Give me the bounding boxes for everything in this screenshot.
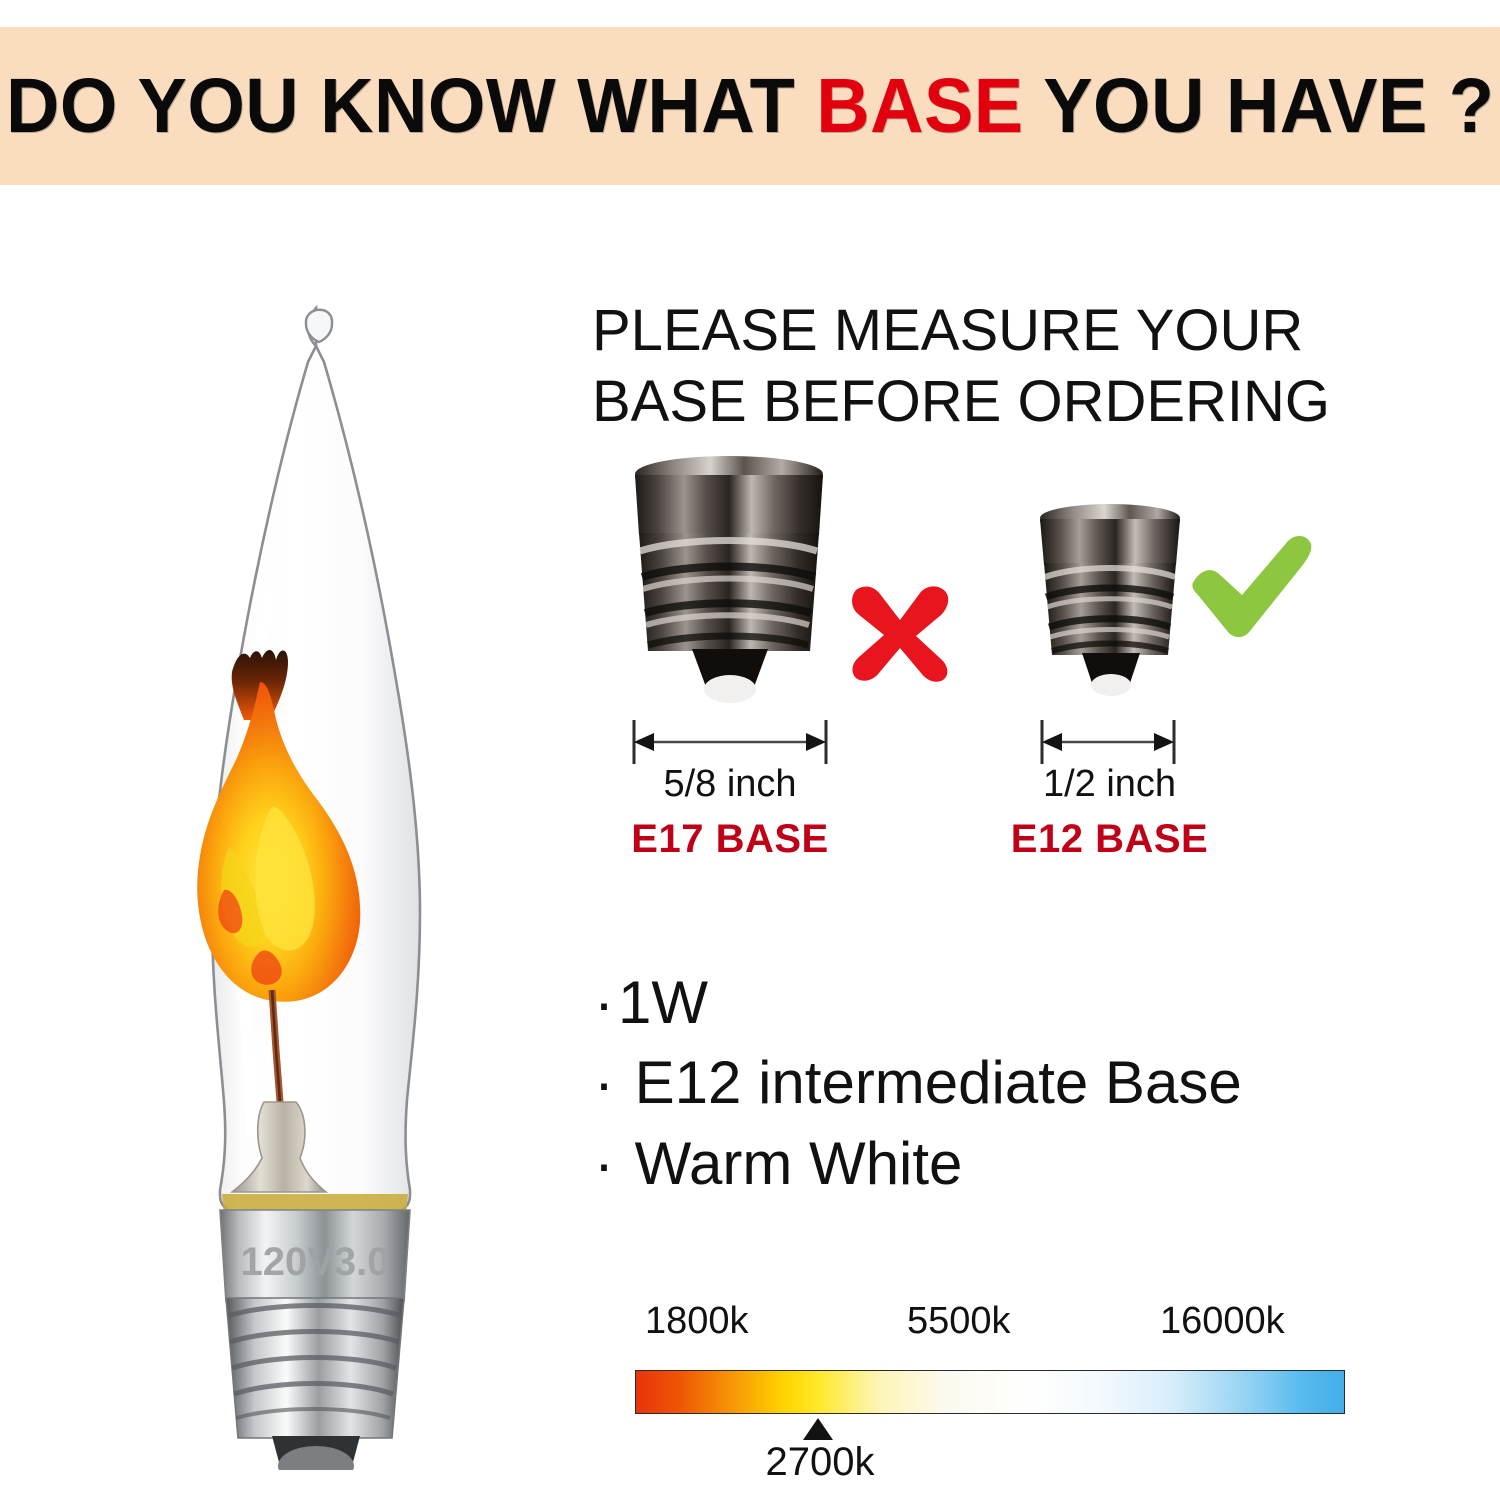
page-title-keyword: BASE <box>816 63 1023 149</box>
header-banner: DO YOU KNOW WHAT BASE YOU HAVE ? <box>0 27 1500 185</box>
product-spec-list: ·1W · E12 intermediate Base · Warm White <box>594 963 1394 1204</box>
page-title-suffix: YOU HAVE ? <box>1023 63 1494 149</box>
spec-item-wattage: ·1W <box>594 963 1394 1043</box>
page-title: DO YOU KNOW WHAT BASE YOU HAVE ? <box>6 62 1494 151</box>
page-title-prefix: DO YOU KNOW WHAT <box>6 63 816 149</box>
e17-dimension-svg <box>630 720 830 764</box>
measure-instruction: PLEASE MEASURE YOUR BASE BEFORE ORDERING <box>592 296 1392 438</box>
socket-comparison: 5/8 inch E17 BASE <box>592 445 1392 865</box>
e12-dimension-label: 1/2 inch <box>1002 763 1217 806</box>
measure-instruction-line2: BASE BEFORE ORDERING <box>592 367 1392 438</box>
kelvin-gradient-bar <box>635 1370 1345 1414</box>
color-temperature-scale: 1800k 5500k 16000k 2700k <box>635 1300 1345 1480</box>
bullet-glyph: · <box>594 1130 614 1197</box>
socket-option-e17: 5/8 inch E17 BASE <box>600 445 920 700</box>
e12-dimension-svg <box>1038 720 1178 764</box>
bullet-glyph: · <box>594 1049 614 1116</box>
spec-item-wattage-label: 1W <box>618 969 708 1036</box>
e12-dimension-line <box>1038 720 1178 764</box>
socket-option-e12: 1/2 inch E12 BASE <box>1002 445 1302 645</box>
bulb-svg: 120V3.0 <box>120 290 540 1470</box>
check-mark-icon <box>1192 533 1312 643</box>
measure-instruction-line1: PLEASE MEASURE YOUR <box>592 296 1392 367</box>
bulb-base-marking: 120V3.0 <box>240 1240 389 1284</box>
bulb-base-threads <box>226 1298 404 1438</box>
check-mark-svg <box>1192 533 1312 643</box>
e17-socket-svg <box>622 455 836 710</box>
kelvin-tick-5500k: 5500k <box>907 1300 1011 1343</box>
e17-socket-image <box>622 455 836 710</box>
spec-item-color: · Warm White <box>594 1124 1394 1204</box>
spec-item-base: · E12 intermediate Base <box>594 1043 1394 1123</box>
e12-base-label: E12 BASE <box>1002 817 1217 862</box>
x-mark-icon <box>848 580 952 684</box>
e17-dimension-line <box>630 720 830 764</box>
spec-item-color-label: Warm White <box>618 1130 962 1197</box>
e12-socket-svg <box>1030 503 1190 703</box>
kelvin-tick-labels: 1800k 5500k 16000k <box>635 1300 1345 1352</box>
kelvin-marker-label: 2700k <box>735 1440 905 1485</box>
kelvin-tick-16000k: 16000k <box>1160 1300 1285 1343</box>
e17-dimension-label: 5/8 inch <box>600 763 860 806</box>
spec-item-base-label: E12 intermediate Base <box>618 1049 1242 1116</box>
product-bulb-image: 120V3.0 <box>120 290 540 1470</box>
kelvin-tick-1800k: 1800k <box>645 1300 749 1343</box>
x-mark-svg <box>848 580 952 684</box>
e12-socket-image <box>1030 503 1190 703</box>
bullet-glyph: · <box>594 969 614 1036</box>
e17-base-label: E17 BASE <box>600 817 860 862</box>
kelvin-marker-triangle-icon <box>803 1418 833 1440</box>
